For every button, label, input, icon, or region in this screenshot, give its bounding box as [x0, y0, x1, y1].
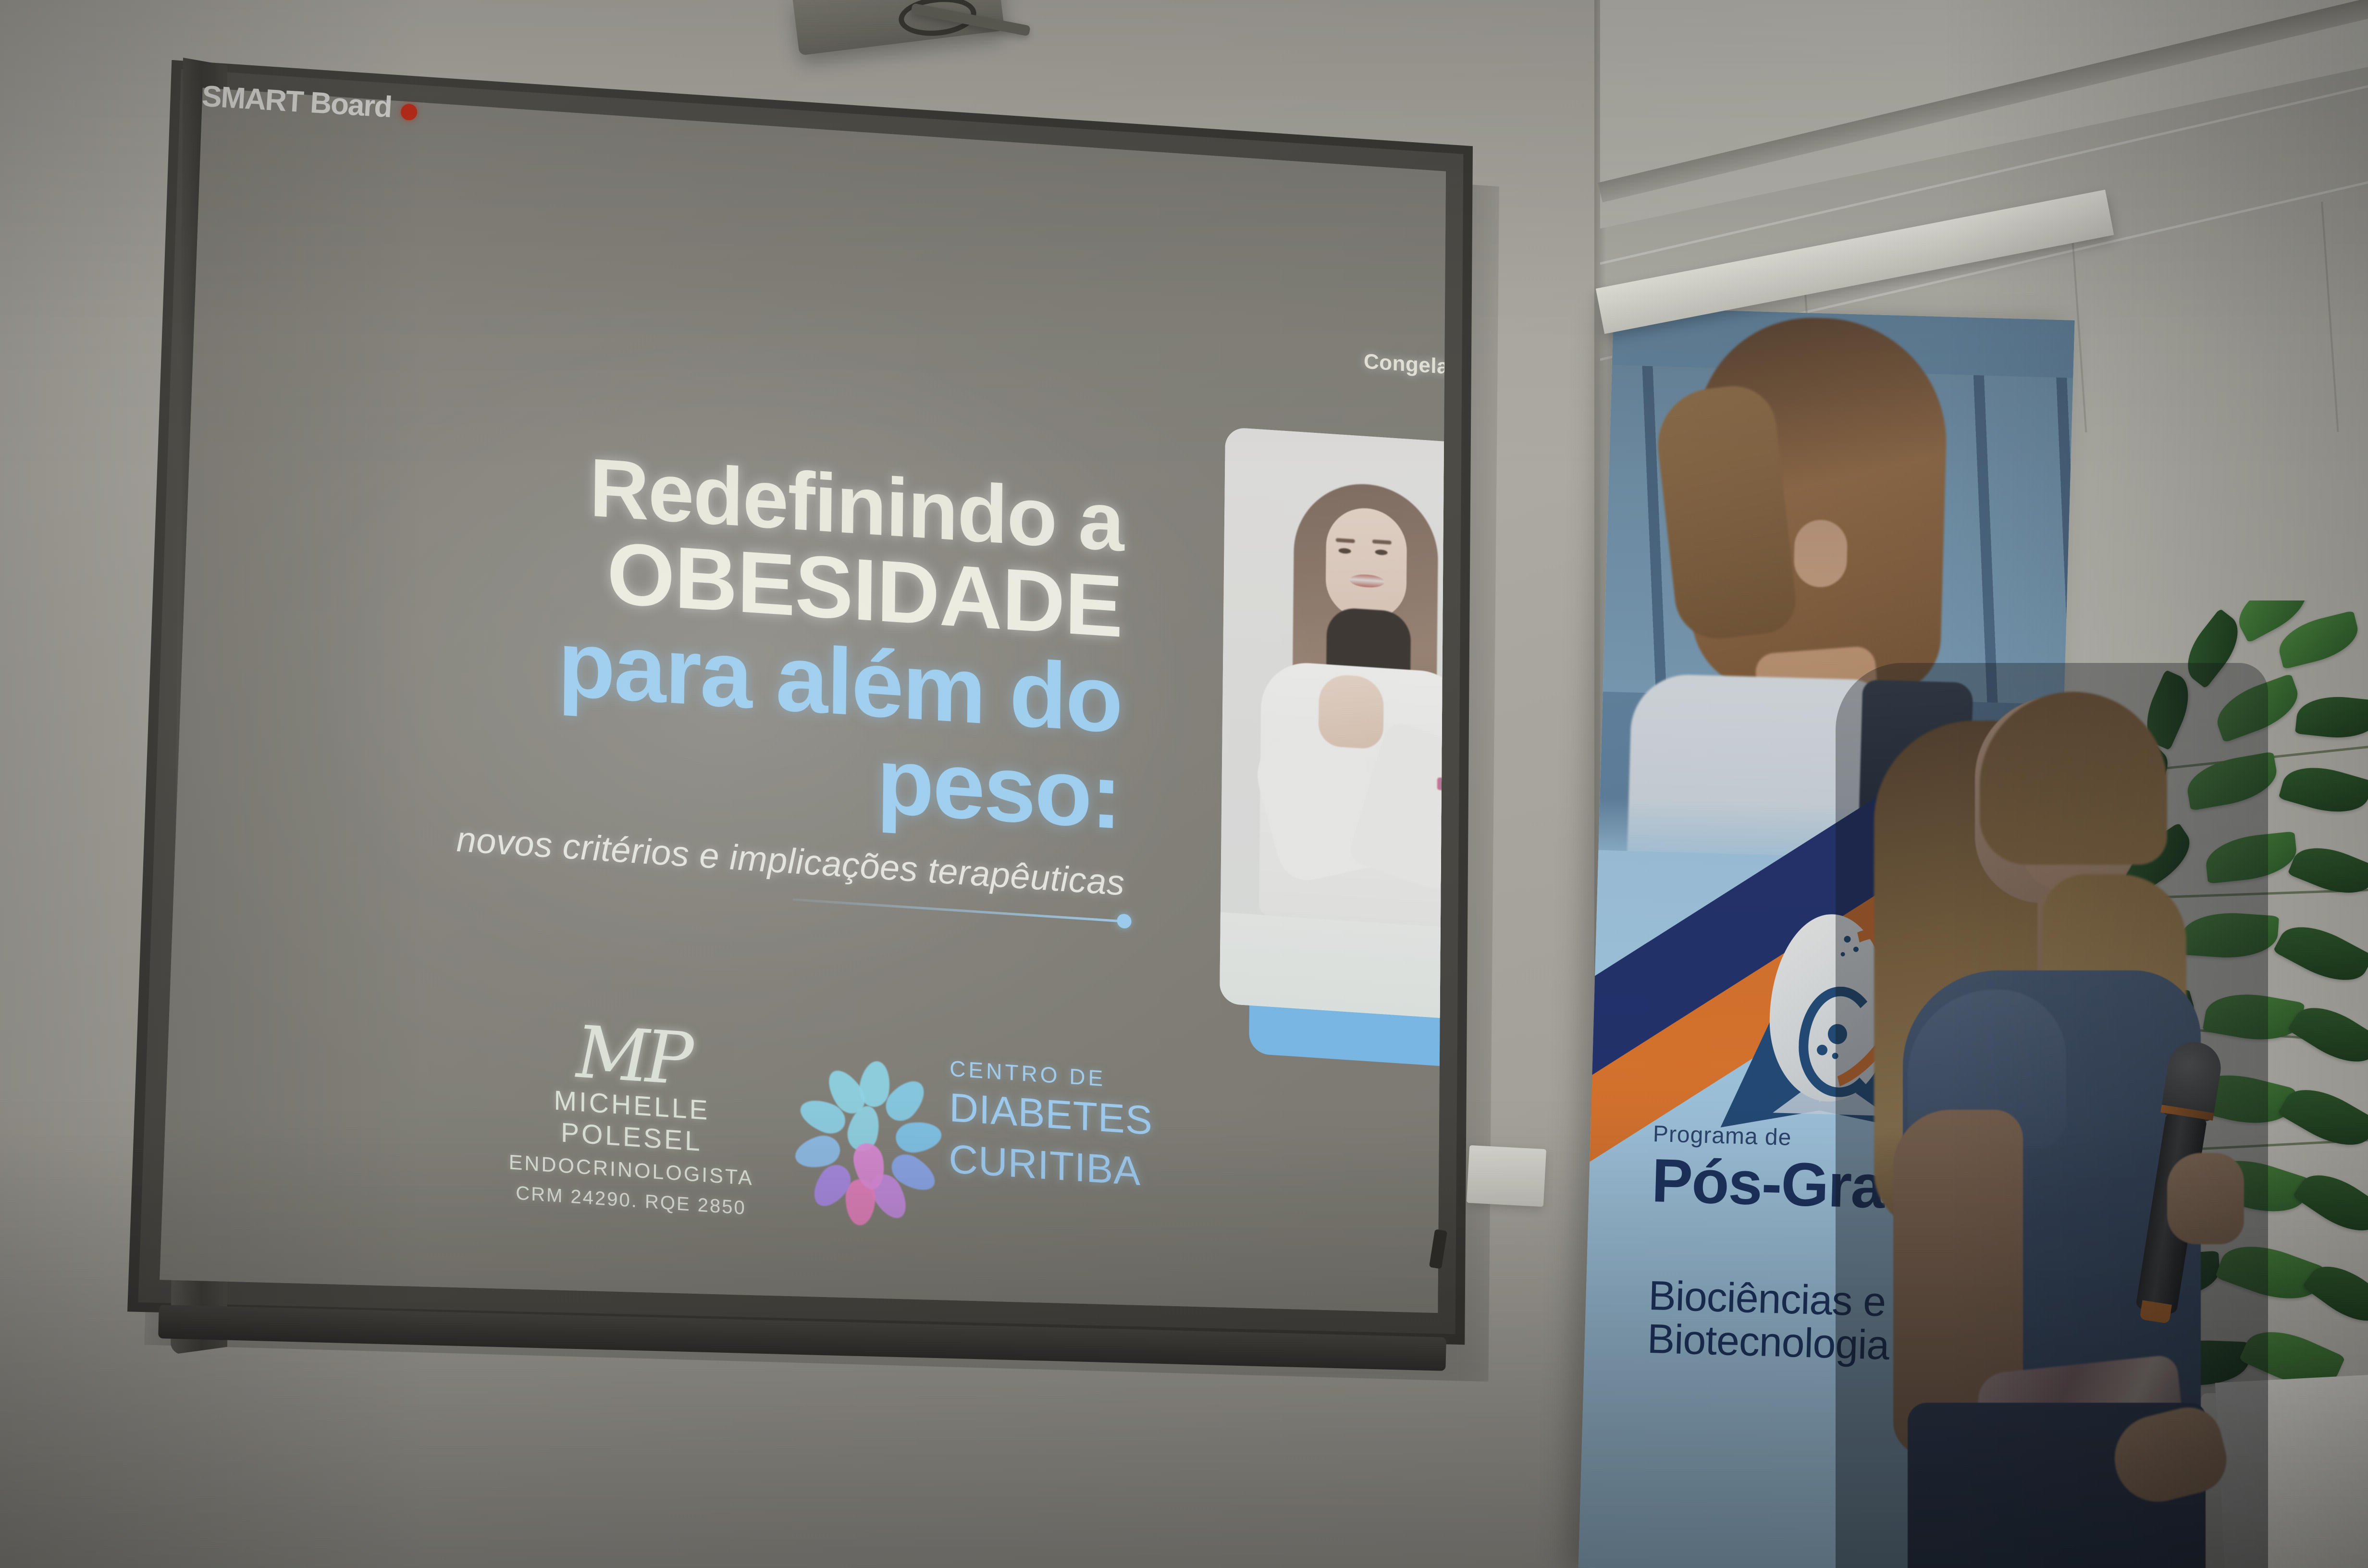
droplet-ring-icon [804, 1060, 945, 1213]
diabetes-center-logo: CENTRO DE DIABETES CURITIBA [804, 1046, 1142, 1260]
slide-title: Redefinindo a OBESIDADE para além do pes… [303, 429, 1124, 845]
portrait-card [1220, 427, 1473, 1047]
slide-content: Congelamento Redefinindo a OBESIDADE par… [278, 125, 1473, 1374]
logo-line-2: DIABETES [949, 1084, 1142, 1143]
wall-mounted-box [1467, 1145, 1546, 1207]
projection-screen[interactable]: Congelamento Redefinindo a OBESIDADE par… [127, 48, 1473, 1374]
logo-line-3: CURITIBA [949, 1136, 1141, 1195]
logo-text: CENTRO DE DIABETES CURITIBA [949, 1055, 1142, 1195]
scene-root: Congelamento Redefinindo a OBESIDADE par… [0, 0, 2368, 1568]
signature-block: MP MICHELLE POLESEL ENDOCRINOLOGISTA CRM… [482, 1017, 782, 1222]
subtitle-dot-icon [1117, 914, 1131, 929]
power-led-icon [400, 103, 418, 121]
smart-board[interactable]: Congelamento Redefinindo a OBESIDADE par… [0, 0, 1634, 1568]
presenter-name: MICHELLE POLESEL [482, 1080, 781, 1163]
portrait-photo [1220, 427, 1473, 1022]
presenter [1836, 663, 2268, 1568]
subtitle-rule [793, 898, 1124, 923]
